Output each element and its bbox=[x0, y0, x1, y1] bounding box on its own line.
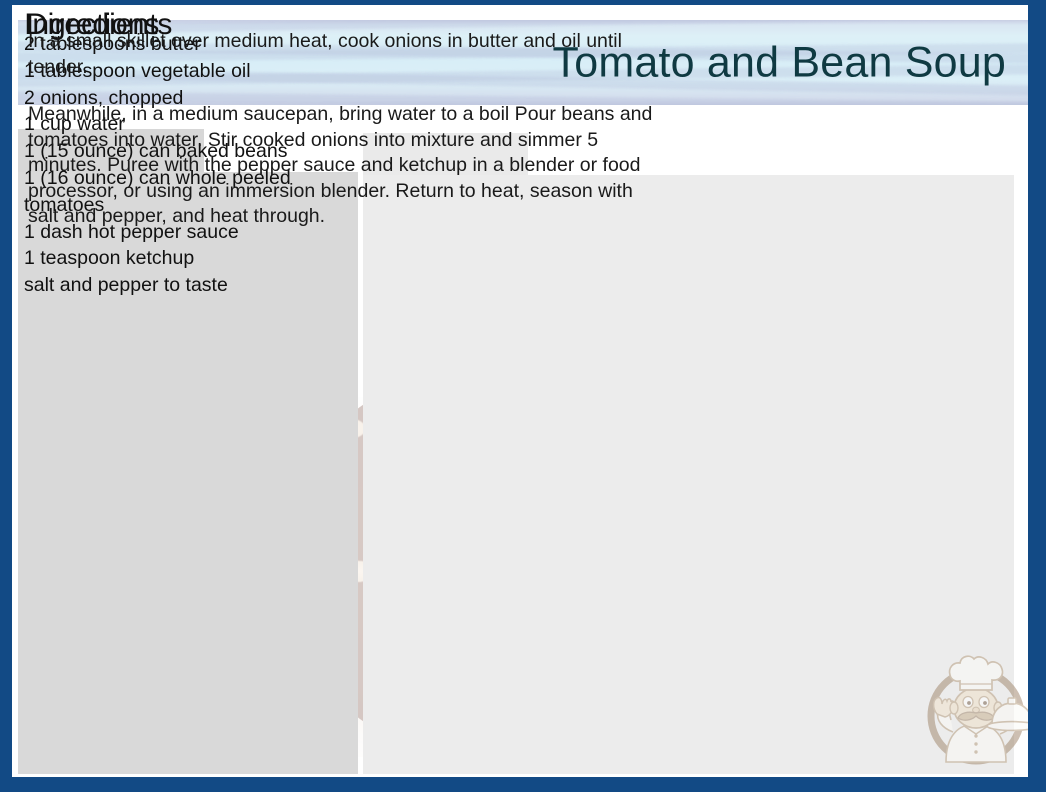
direction-paragraph: Meanwhile, in a medium saucepan, bring w… bbox=[28, 102, 656, 230]
ingredient-item: salt and pepper to taste bbox=[24, 272, 342, 299]
chef-mascot-logo bbox=[920, 650, 1032, 768]
direction-paragraph: In a small skillet over medium heat, coo… bbox=[28, 29, 656, 80]
slide-canvas: Tomato and Bean Soup Ingredients 2 table… bbox=[12, 5, 1028, 777]
recipe-slide: Tomato and Bean Soup Ingredients 2 table… bbox=[0, 0, 1046, 792]
ingredient-item: 1 teaspoon ketchup bbox=[24, 245, 342, 272]
directions-body: In a small skillet over medium heat, coo… bbox=[28, 29, 656, 230]
directions-panel bbox=[363, 175, 1014, 774]
